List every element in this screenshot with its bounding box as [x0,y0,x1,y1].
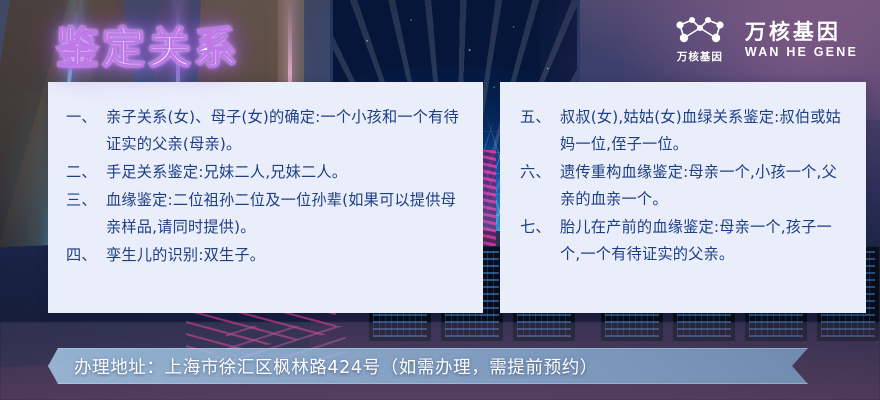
list-item-number: 七、 [520,214,560,241]
list-item-text: 遗传重构血缘鉴定:母亲一个,小孩一个,父亲的血亲一个。 [560,159,852,213]
page-title: 鉴定关系 [56,14,240,76]
list-item-text: 亲子关系(女)、母子(女)的确定:一个小孩和一个有待证实的父亲(母亲)。 [106,104,467,158]
list-item-number: 二、 [66,159,106,186]
logo-mark: 万核基因 [671,16,729,64]
list-item-text: 孪生儿的识别:双生子。 [106,242,467,269]
info-panel-right: 五、 叔叔(女),姑姑(女)血绿关系鉴定:叔伯或姑妈一位,侄子一位。 六、 遗传… [500,82,866,313]
info-panel-left: 一、 亲子关系(女)、母子(女)的确定:一个小孩和一个有待证实的父亲(母亲)。 … [48,82,483,313]
poster-stage: 鉴定关系 [0,0,880,400]
address-banner: 办理地址：上海市徐汇区枫林路424号（如需办理，需提前预约） [48,348,808,384]
relationship-list-right: 五、 叔叔(女),姑姑(女)血绿关系鉴定:叔伯或姑妈一位,侄子一位。 六、 遗传… [500,82,866,268]
list-item-text: 叔叔(女),姑姑(女)血绿关系鉴定:叔伯或姑妈一位,侄子一位。 [560,104,852,158]
logo-name-cn: 万核基因 [745,21,858,43]
list-item-number: 一、 [66,104,106,131]
logo-wordmark: 万核基因 WAN HE GENE [745,21,858,59]
list-item: 二、 手足关系鉴定:兄妹二人,兄妹二人。 [66,159,467,186]
list-item-number: 三、 [66,187,106,214]
logo-name-en: WAN HE GENE [745,45,858,59]
list-item-text: 胎儿在产前的血缘鉴定:母亲一个,孩子一个,一个有待证实的父亲。 [560,214,852,268]
list-item-number: 四、 [66,242,106,269]
list-item: 一、 亲子关系(女)、母子(女)的确定:一个小孩和一个有待证实的父亲(母亲)。 [66,104,467,158]
relationship-list-left: 一、 亲子关系(女)、母子(女)的确定:一个小孩和一个有待证实的父亲(母亲)。 … [48,82,483,269]
list-item: 四、 孪生儿的识别:双生子。 [66,242,467,269]
logo-mark-label: 万核基因 [677,49,723,64]
list-item-number: 六、 [520,159,560,186]
brand-logo: 万核基因 万核基因 WAN HE GENE [671,16,858,64]
list-item-text: 血缘鉴定:二位祖孙二位及一位孙辈(如果可以提供母亲样品,请同时提供)。 [106,187,467,241]
address-text: 办理地址：上海市徐汇区枫林路424号（如需办理，需提前预约） [74,348,598,384]
list-item-number: 五、 [520,104,560,131]
list-item: 五、 叔叔(女),姑姑(女)血绿关系鉴定:叔伯或姑妈一位,侄子一位。 [520,104,852,158]
list-item: 三、 血缘鉴定:二位祖孙二位及一位孙辈(如果可以提供母亲样品,请同时提供)。 [66,187,467,241]
list-item-text: 手足关系鉴定:兄妹二人,兄妹二人。 [106,159,467,186]
list-item: 七、 胎儿在产前的血缘鉴定:母亲一个,孩子一个,一个有待证实的父亲。 [520,214,852,268]
dna-molecule-icon [671,16,729,46]
list-item: 六、 遗传重构血缘鉴定:母亲一个,小孩一个,父亲的血亲一个。 [520,159,852,213]
